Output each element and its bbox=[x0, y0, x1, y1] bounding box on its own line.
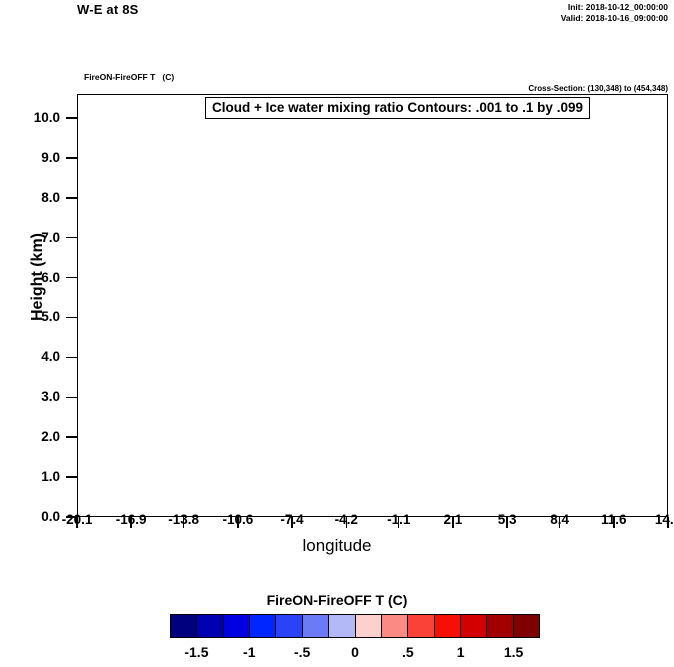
colorbar-swatch-3 bbox=[250, 615, 276, 637]
colorbar-swatch-11 bbox=[461, 615, 487, 637]
colorbar-swatch-5 bbox=[303, 615, 329, 637]
x-tick-label: 8.4 bbox=[530, 512, 590, 527]
y-tick-mark bbox=[66, 317, 77, 319]
colorbar-swatch-12 bbox=[487, 615, 513, 637]
x-tick-label: 2.1 bbox=[423, 512, 483, 527]
colorbar-swatch-6 bbox=[329, 615, 355, 637]
colorbar-swatch-1 bbox=[197, 615, 223, 637]
field-info-line-1: FireON-FireOFF T (C) bbox=[84, 72, 235, 83]
y-tick-mark bbox=[66, 237, 77, 239]
valid-time: Valid: 2018-10-16_09:00:00 bbox=[561, 13, 668, 24]
colorbar-tick-label: 1.5 bbox=[491, 644, 537, 660]
init-time: Init: 2018-10-12_00:00:00 bbox=[561, 2, 668, 13]
x-tick-label: -1.1 bbox=[369, 512, 429, 527]
colorbar-swatch-13 bbox=[514, 615, 539, 637]
y-tick-mark bbox=[66, 277, 77, 279]
init-valid-times: Init: 2018-10-12_00:00:00 Valid: 2018-10… bbox=[561, 2, 668, 24]
x-tick-label: -13.8 bbox=[154, 512, 214, 527]
y-tick-mark bbox=[66, 476, 77, 478]
x-tick-label: 14.8 bbox=[638, 512, 674, 527]
y-tick-mark bbox=[66, 357, 77, 359]
colorbar-title: FireON-FireOFF T (C) bbox=[187, 592, 487, 608]
colorbar-swatch-2 bbox=[224, 615, 250, 637]
colorbar-tick-label: 1 bbox=[438, 644, 484, 660]
cross-section-info: Cross-Section: (130,348) to (454,348) bbox=[528, 84, 668, 93]
x-tick-label: -4.2 bbox=[316, 512, 376, 527]
y-tick-label: 2.0 bbox=[4, 429, 60, 444]
colorbar-swatch-4 bbox=[276, 615, 302, 637]
x-tick-label: -20.1 bbox=[47, 512, 107, 527]
x-tick-label: -7.4 bbox=[262, 512, 322, 527]
colorbar-swatch-7 bbox=[356, 615, 382, 637]
page-title: W-E at 8S bbox=[77, 2, 139, 17]
y-tick-label: 1.0 bbox=[4, 469, 60, 484]
x-tick-label: -10.6 bbox=[208, 512, 268, 527]
y-tick-mark bbox=[66, 436, 77, 438]
x-tick-label: 5.3 bbox=[477, 512, 537, 527]
colorbar-tick-label: -1 bbox=[226, 644, 272, 660]
contour-title-box: Cloud + Ice water mixing ratio Contours:… bbox=[205, 97, 590, 119]
y-tick-mark bbox=[66, 397, 77, 399]
y-tick-label: 9.0 bbox=[4, 150, 60, 165]
colorbar-tick-label: -.5 bbox=[279, 644, 325, 660]
y-tick-label: 8.0 bbox=[4, 190, 60, 205]
y-tick-label: 5.0 bbox=[4, 309, 60, 324]
colorbar-swatch-8 bbox=[382, 615, 408, 637]
colorbar-swatch-0 bbox=[171, 615, 197, 637]
y-tick-label: 6.0 bbox=[4, 270, 60, 285]
y-tick-mark bbox=[66, 157, 77, 159]
colorbar-swatch-10 bbox=[435, 615, 461, 637]
y-tick-mark bbox=[66, 197, 77, 199]
colorbar-tick-label: .5 bbox=[385, 644, 431, 660]
temperature-difference-field bbox=[78, 95, 667, 516]
colorbar-tick-label: 0 bbox=[332, 644, 378, 660]
y-tick-mark bbox=[66, 117, 77, 119]
colorbar-swatch-9 bbox=[408, 615, 434, 637]
x-tick-label: -16.9 bbox=[101, 512, 161, 527]
colorbar-tick-label: -1.5 bbox=[173, 644, 219, 660]
cross-section-plot bbox=[77, 94, 668, 517]
x-axis-title: longitude bbox=[247, 536, 427, 556]
y-tick-label: 3.0 bbox=[4, 389, 60, 404]
y-tick-label: 10.0 bbox=[4, 110, 60, 125]
colorbar bbox=[170, 614, 540, 638]
y-tick-label: 7.0 bbox=[4, 230, 60, 245]
y-tick-label: 4.0 bbox=[4, 349, 60, 364]
x-tick-label: 11.6 bbox=[584, 512, 644, 527]
